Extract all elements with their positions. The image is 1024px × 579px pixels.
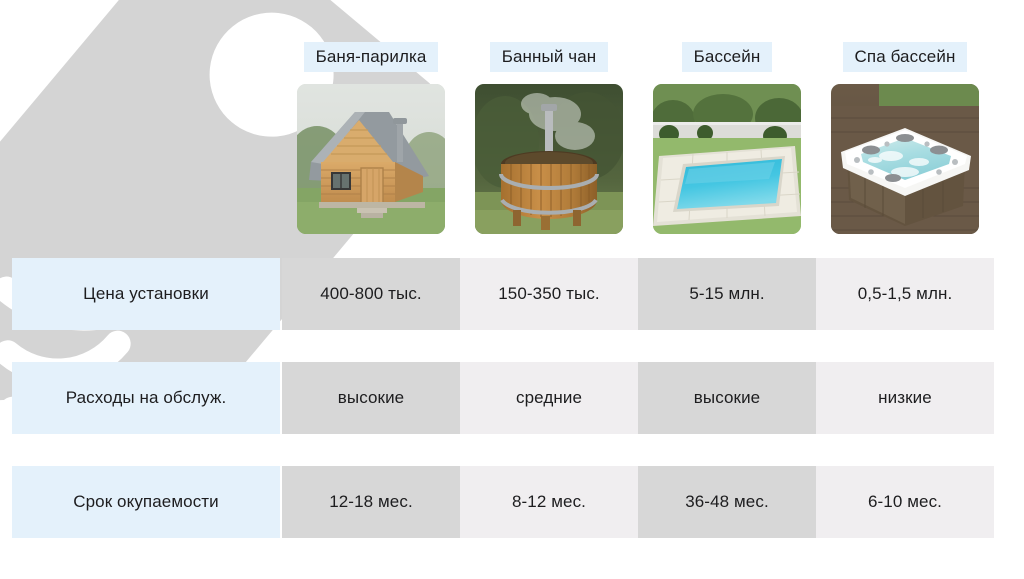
- wooden-hot-tub-photo: [475, 84, 623, 234]
- column-image-cell: [460, 84, 638, 234]
- table-cell: 36-48 мес.: [638, 466, 816, 538]
- table-cell: средние: [460, 362, 638, 434]
- column-header-label-1: Банный чан: [490, 42, 609, 72]
- table-cell: 5-15 млн.: [638, 258, 816, 330]
- column-image-cell: [638, 84, 816, 234]
- table-row: Срок окупаемости 12-18 мес. 8-12 мес. 36…: [12, 466, 996, 538]
- table-cell: 0,5-1,5 млн.: [816, 258, 994, 330]
- column-headers: Баня-парилка Банный чан Бассейн Спа басс…: [282, 42, 996, 72]
- column-header-label-2: Бассейн: [682, 42, 773, 72]
- column-header-cell: Бассейн: [638, 42, 816, 72]
- row-label-1: Расходы на обслуж.: [12, 362, 280, 434]
- table-cell: 400-800 тыс.: [282, 258, 460, 330]
- comparison-table-page: Баня-парилка Банный чан Бассейн Спа басс…: [0, 0, 1024, 579]
- column-header-label-3: Спа бассейн: [843, 42, 968, 72]
- column-image-cell: [282, 84, 460, 234]
- table-cell: высокие: [282, 362, 460, 434]
- table-row: Цена установки 400-800 тыс. 150-350 тыс.…: [12, 258, 996, 330]
- table-cell: 6-10 мес.: [816, 466, 994, 538]
- column-images: [282, 84, 996, 234]
- log-sauna-cabin-photo: [297, 84, 445, 234]
- column-header-cell: Банный чан: [460, 42, 638, 72]
- row-label-2: Срок окупаемости: [12, 466, 280, 538]
- row-cells: 12-18 мес. 8-12 мес. 36-48 мес. 6-10 мес…: [282, 466, 994, 538]
- table-cell: низкие: [816, 362, 994, 434]
- spa-jacuzzi-photo: [831, 84, 979, 234]
- table-cell: 150-350 тыс.: [460, 258, 638, 330]
- row-cells: высокие средние высокие низкие: [282, 362, 994, 434]
- row-cells: 400-800 тыс. 150-350 тыс. 5-15 млн. 0,5-…: [282, 258, 994, 330]
- row-label-0: Цена установки: [12, 258, 280, 330]
- table-cell: высокие: [638, 362, 816, 434]
- table-row: Расходы на обслуж. высокие средние высок…: [12, 362, 996, 434]
- column-header-cell: Спа бассейн: [816, 42, 994, 72]
- column-image-cell: [816, 84, 994, 234]
- column-header-cell: Баня-парилка: [282, 42, 460, 72]
- column-header-label-0: Баня-парилка: [304, 42, 439, 72]
- table-cell: 12-18 мес.: [282, 466, 460, 538]
- outdoor-swimming-pool-photo: [653, 84, 801, 234]
- table-cell: 8-12 мес.: [460, 466, 638, 538]
